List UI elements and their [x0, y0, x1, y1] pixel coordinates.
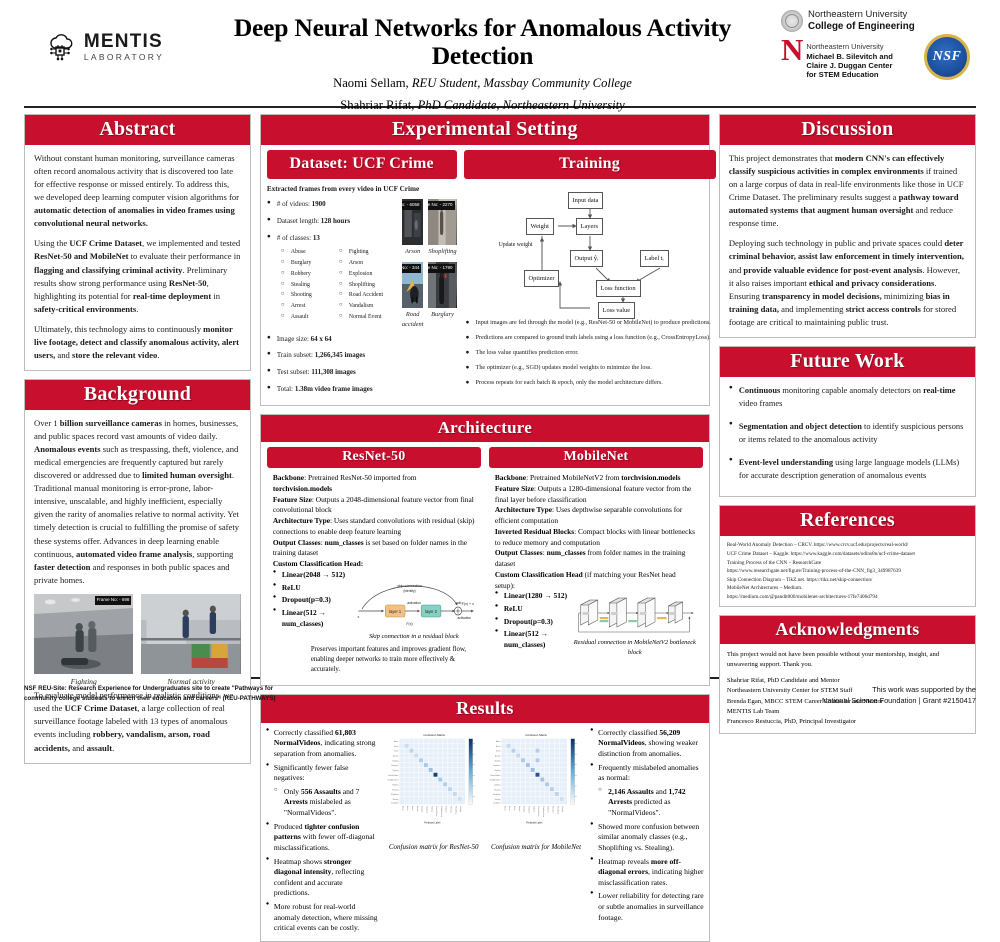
svg-text:RoadAccidents: RoadAccidents — [439, 806, 442, 817]
mentis-cloud-chip-icon — [44, 32, 78, 62]
resnet-head-title: Custom Classification Head: — [273, 559, 475, 570]
shoplifting-image: Frame No: - 2270 — [428, 199, 456, 245]
background-body: Over 1 billion surveillance cameras in h… — [25, 410, 250, 763]
resnet-arch-type-line: Architecture Type: Uses standard convolu… — [273, 516, 475, 537]
list-item: Arson — [339, 259, 395, 268]
architecture-heading: Architecture — [261, 415, 709, 442]
list-item: Abuse — [281, 248, 337, 257]
svg-text:NormalVideos: NormalVideos — [490, 774, 500, 776]
shoplifting-caption: Shoplifting — [428, 247, 456, 257]
thumbnail-burglary: Frame No: - 1790 — [428, 262, 456, 329]
stem-line-4: for STEM Education — [806, 70, 893, 79]
resnet-note: Preserves important features and improve… — [273, 645, 475, 675]
resnet-confusion-matrix-figure: Confusion Matrix — [386, 728, 482, 937]
abstract-paragraph-2: Using the UCF Crime Dataset, we implemen… — [34, 237, 241, 315]
mobilenet-arch-type-line: Architecture Type: Uses depthwise separa… — [495, 505, 697, 526]
svg-text:Assault: Assault — [518, 806, 521, 812]
acknowledgments-heading: Acknowledgments — [720, 616, 975, 644]
confusion-matrix-resnet: Confusion Matrix — [386, 728, 482, 840]
resnet-head-items: Linear(2048 → 512) ReLU Dropout(p=0.3) L… — [273, 570, 349, 641]
list-item: The loss value quantifies prediction err… — [466, 349, 716, 358]
resnet-skip-figure: layer 1 layer 2 skip connection (identit… — [353, 570, 475, 641]
background-figures: Frame No: - 698 — [34, 594, 241, 688]
training-flow-diagram: Input data Weight Layers Output ŷᵢ Label… — [464, 182, 716, 314]
dataset-subtitle: Extracted frames from every video in UCF… — [267, 185, 419, 193]
discussion-body: This project demonstrates that modern CN… — [720, 145, 975, 337]
author-1-name: Naomi Sellam, — [333, 76, 409, 90]
svg-text:Abuse: Abuse — [496, 740, 501, 743]
svg-text:x: x — [357, 615, 359, 619]
neu-college: College of Engineering — [808, 21, 915, 32]
abstract-panel: Abstract Without constant human monitori… — [24, 114, 251, 371]
svg-text:Shooting: Shooting — [551, 806, 554, 813]
list-item: Heatmap shows stronger diagonal intensit… — [266, 857, 380, 900]
list-item: Stealing — [281, 281, 337, 290]
discussion-heading: Discussion — [720, 115, 975, 145]
abstract-paragraph-3: Ultimately, this technology aims to cont… — [34, 323, 241, 362]
list-item: Only 556 Assaults and 7 Arrests mislabel… — [274, 787, 380, 819]
svg-text:Arrest: Arrest — [406, 806, 409, 811]
list-item: # of videos: 1900 — [267, 199, 395, 210]
future-work-list: Continuous monitoring capable anomaly de… — [729, 384, 966, 483]
svg-text:Arson: Arson — [496, 749, 500, 752]
list-item: Lower reliability for detecting rare or … — [590, 891, 704, 923]
resnet-backbone-line: Backbone: Pretrained ResNet-50 imported … — [273, 473, 475, 494]
results-heading: Results — [261, 695, 709, 723]
node-loss-function: Loss function — [596, 280, 641, 297]
mobilenet-figure-caption: Residual connection in MobileNetV2 bottl… — [573, 638, 697, 657]
list-item: Segmentation and object detection to ide… — [729, 420, 966, 447]
university-seal-icon — [781, 10, 803, 32]
author-1-affiliation: REU Student, Massbay Community College — [412, 76, 632, 90]
svg-text:NormalVideos: NormalVideos — [537, 806, 539, 816]
references-body: Real-World Anomaly Detection – CRCV. htt… — [720, 536, 975, 606]
list-item: Linear(512 → num_classes) — [495, 629, 569, 650]
mobilenet-results-bullets: Correctly classified 56,209 NormalVideos… — [590, 728, 704, 937]
class-column-1: Abuse Burglary Robbery Stealing Shooting… — [281, 248, 337, 324]
svg-text:Arson: Arson — [411, 806, 414, 810]
reference-item: Training Process of the CNN – ResearchGa… — [727, 559, 968, 567]
list-item: Linear(1280 → 512) — [495, 591, 569, 602]
list-item: Burglary — [281, 259, 337, 268]
svg-text:Confusion Matrix: Confusion Matrix — [525, 732, 547, 736]
svg-text:layer 1: layer 1 — [389, 609, 401, 614]
author-2-name: Shahriar Rifat, — [340, 98, 414, 112]
svg-text:Explosion: Explosion — [527, 806, 529, 813]
stem-neu-name: Northeastern University — [806, 43, 893, 52]
svg-text:RoadAccidents: RoadAccidents — [489, 778, 500, 781]
northeastern-n-icon: N — [781, 37, 803, 63]
training-subpanel: Training — [464, 150, 716, 400]
list-item: Correctly classified 56,209 NormalVideos… — [590, 728, 704, 760]
discussion-paragraph-2: Deploying such technology in public and … — [729, 237, 966, 328]
resnet-results-bullets: Correctly classified 61,803 NormalVideos… — [266, 728, 380, 937]
list-item: Fighting — [339, 248, 395, 257]
stem-line-3: Claire J. Duggan Center — [806, 61, 893, 70]
mentis-logo-container: MENTIS LABORATORY — [24, 6, 184, 62]
svg-text:skip connection: skip connection — [397, 584, 422, 588]
list-item: Produced tighter confusion patterns with… — [266, 822, 380, 854]
resnet-feature-size-line: Feature Size: Outputs a 2048-dimensional… — [273, 495, 475, 516]
svg-text:Arrest: Arrest — [394, 745, 399, 748]
svg-text:Explosion: Explosion — [425, 806, 427, 813]
footer-left-line-1: NSF REU-Site: Research Experience for Un… — [24, 684, 275, 694]
footer-right: This work was supported by the National … — [822, 684, 976, 707]
list-item: Correctly classified 61,803 NormalVideos… — [266, 728, 380, 760]
svg-text:Burglary: Burglary — [392, 760, 398, 762]
future-work-body: Continuous monitoring capable anomaly de… — [720, 377, 975, 497]
architecture-panel: Architecture ResNet-50 Backbone: Pretrai… — [260, 414, 710, 685]
mobilenet-confusion-matrix-figure: Confusion Matrix — [488, 728, 584, 937]
nsf-logo-icon: NSF — [924, 34, 970, 80]
class-list-grid: Abuse Burglary Robbery Stealing Shooting… — [277, 245, 395, 324]
page-title: Deep Neural Networks for Anomalous Activ… — [184, 14, 781, 70]
poster-root: MENTIS LABORATORY Deep Neural Networks f… — [0, 0, 1000, 707]
mobilenet-figure: Residual connection in MobileNetV2 bottl… — [573, 591, 697, 657]
mobilenet-body: Backbone: Pretrained MobileNetV2 from to… — [489, 468, 703, 662]
svg-text:activation: activation — [457, 616, 471, 620]
thumbnail-road-accident: Frame No: - 344 — [402, 262, 424, 329]
confusion-matrix-mobilenet: Confusion Matrix — [488, 728, 584, 840]
list-item: Significantly fewer false negatives: Onl… — [266, 763, 380, 819]
future-work-heading: Future Work — [720, 347, 975, 377]
left-column: Abstract Without constant human monitori… — [24, 114, 251, 674]
node-layers: Layers — [576, 218, 603, 235]
experimental-setting-panel: Experimental Setting Dataset: UCF Crime … — [260, 114, 710, 406]
list-item: # of classes: 13 Abuse Burglary Robbery — [267, 233, 395, 324]
svg-text:NormalVideos: NormalVideos — [388, 774, 398, 776]
right-column: Discussion This project demonstrates tha… — [719, 114, 976, 674]
node-loss-value: Loss value — [598, 302, 636, 319]
reference-item: UCF Crime Dataset – Kaggle. https://www.… — [727, 550, 968, 558]
mobilenet-backbone-line: Backbone: Pretrained MobileNetV2 from to… — [495, 473, 697, 484]
ack-name: Francesco Restuccia, PhD, Principal Inve… — [727, 717, 968, 727]
reference-item: Real-World Anomaly Detection – CRCV. htt… — [727, 541, 968, 549]
mobilenet-inverted-blocks-line: Inverted Residual Blocks: Compact blocks… — [495, 527, 697, 548]
dataset-heading: Dataset: UCF Crime — [267, 150, 457, 179]
node-label: Label tᵢ — [640, 250, 669, 267]
svg-text:F(x) + x: F(x) + x — [462, 602, 474, 606]
neu-name: Northeastern University — [808, 10, 915, 21]
svg-text:Fighting: Fighting — [430, 806, 433, 812]
list-item: Test subset: 111,308 images — [267, 367, 457, 378]
thumbnail-shoplifting: Frame No: - 2270 — [428, 199, 456, 257]
svg-text:Shooting: Shooting — [449, 806, 452, 813]
mentis-logo: MENTIS LABORATORY — [44, 32, 164, 62]
acknowledgments-panel: Acknowledgments This project would not h… — [719, 615, 976, 734]
stem-line-2: Michael B. Silevitch and — [806, 52, 893, 61]
svg-text:Predicted Label: Predicted Label — [424, 821, 440, 824]
skip-connection-diagram: layer 1 layer 2 skip connection (identit… — [353, 573, 475, 631]
dataset-thumbnails: Frame No: - 6058 — [402, 199, 457, 329]
resnet-subpanel: ResNet-50 Backbone: Pretrained ResNet-50… — [267, 447, 481, 679]
svg-text:NormalVideos: NormalVideos — [435, 806, 437, 816]
mentis-name: MENTIS — [84, 32, 164, 51]
mobilenet-head-title: Custom Classification Head (if matching … — [495, 570, 697, 591]
svg-text:layer 2: layer 2 — [425, 609, 437, 614]
mentis-sublabel: LABORATORY — [84, 53, 164, 62]
svg-text:Shoplifting: Shoplifting — [556, 806, 559, 814]
ack-name: MENTIS Lab Team — [727, 707, 968, 717]
fighting-figure: Frame No: - 698 — [34, 594, 133, 688]
reference-item: https://www.researchgate.net/figure/Trai… — [727, 567, 968, 575]
list-item: Road Accident — [339, 291, 395, 300]
results-panel: Results Correctly classified 61,803 Norm… — [260, 694, 710, 942]
mobilenet-feature-size-line: Feature Size: Outputs a 1280-dimensional… — [495, 484, 697, 505]
list-item: Linear(2048 → 512) — [273, 570, 349, 581]
svg-text:Fighting: Fighting — [532, 806, 535, 812]
svg-text:Abuse: Abuse — [393, 740, 398, 743]
svg-text:Burglary: Burglary — [494, 760, 500, 762]
list-item: 2,146 Assaults and 1,742 Arrests predict… — [598, 787, 704, 819]
svg-text:add: add — [456, 601, 461, 605]
list-item: More robust for real-world anomaly detec… — [266, 902, 380, 934]
mobilenet-output-classes-line: Output Classes: num_classes from folder … — [495, 548, 697, 569]
svg-text:Shooting: Shooting — [392, 788, 399, 791]
node-optimizer: Optimizer — [524, 270, 560, 287]
list-item: Event-level understanding using large la… — [729, 456, 966, 483]
discussion-panel: Discussion This project demonstrates tha… — [719, 114, 976, 338]
list-item: Vandalism — [339, 302, 395, 311]
abstract-p1-text: Without constant human monitoring, surve… — [34, 153, 239, 202]
node-input-data: Input data — [568, 192, 604, 209]
list-item: Arrest — [281, 302, 337, 311]
svg-text:Robbery: Robbery — [392, 784, 398, 786]
list-item: Predictions are compared to ground truth… — [466, 334, 716, 343]
svg-text:Assault: Assault — [495, 754, 501, 757]
list-item: Dataset length: 128 hours — [267, 216, 395, 227]
list-item: Image size: 64 x 64 — [267, 334, 457, 345]
svg-text:Stealing: Stealing — [561, 806, 564, 812]
svg-text:Shoplifting: Shoplifting — [454, 806, 457, 814]
svg-text:Robbery: Robbery — [547, 806, 549, 812]
list-item: Robbery — [281, 270, 337, 279]
dataset-stats-list-2: Image size: 64 x 64 Train subset: 1,266,… — [267, 334, 457, 395]
svg-text:RoadAccidents: RoadAccidents — [387, 778, 398, 781]
normal-activity-image — [141, 594, 240, 674]
arson-caption: Arson — [402, 247, 424, 257]
poster-columns: Abstract Without constant human monitori… — [24, 114, 976, 674]
svg-text:Fighting: Fighting — [495, 769, 501, 772]
list-item: Explosion — [339, 270, 395, 279]
frame-number-label: Frame No: - 698 — [95, 596, 132, 605]
list-item: Continuous monitoring capable anomaly de… — [729, 384, 966, 411]
list-item: Dropout(p=0.3) — [495, 617, 569, 628]
background-heading: Background — [25, 380, 250, 410]
svg-text:Assault: Assault — [415, 806, 418, 812]
svg-text:Burglary: Burglary — [522, 806, 524, 812]
mobilenet-subpanel: MobileNet Backbone: Pretrained MobileNet… — [489, 447, 703, 679]
author-2: Shahriar Rifat, PhD Candidate, Northeast… — [184, 97, 781, 114]
list-item: Assault — [281, 313, 337, 322]
burglary-image: Frame No: - 1790 — [428, 262, 456, 308]
list-item: Input images are fed through the model (… — [466, 319, 716, 328]
northeastern-coe-logo: Northeastern University College of Engin… — [781, 10, 976, 32]
list-item: The optimizer (e.g., SGD) updates model … — [466, 364, 716, 373]
normal-activity-figure: Normal activity — [141, 594, 240, 688]
svg-text:Abuse: Abuse — [401, 806, 404, 811]
future-work-panel: Future Work Continuous monitoring capabl… — [719, 346, 976, 498]
middle-column: Experimental Setting Dataset: UCF Crime … — [260, 114, 710, 674]
list-item: ReLU — [495, 604, 569, 615]
experimental-setting-heading: Experimental Setting — [261, 115, 709, 145]
frame-number-label: Frame No: - 6058 — [402, 201, 422, 210]
reference-item: MobileNet Architectures – Medium. — [727, 584, 968, 592]
list-item: Showed more confusion between similar an… — [590, 822, 704, 854]
author-1: Naomi Sellam, REU Student, Massbay Commu… — [184, 75, 781, 92]
svg-text:Shooting: Shooting — [494, 788, 501, 791]
footer-left-line-2: community college students to enrich the… — [24, 694, 275, 704]
svg-text:Burglary: Burglary — [420, 806, 422, 812]
reference-item: Skip Connection Diagram – TikZ.net. http… — [727, 576, 968, 584]
list-item: ReLU — [273, 583, 349, 594]
road-accident-caption: Road accident — [402, 310, 424, 329]
training-heading: Training — [464, 150, 716, 179]
references-panel: References Real-World Anomaly Detection … — [719, 505, 976, 607]
mobilenet-bottleneck-diagram — [573, 593, 697, 637]
list-item: Frequently mislabeled anomalies as norma… — [590, 763, 704, 819]
resnet-body: Backbone: Pretrained ResNet-50 imported … — [267, 468, 481, 679]
skip-connection-caption: Skip connection in a residual block — [353, 632, 475, 641]
discussion-paragraph-1: This project demonstrates that modern CN… — [729, 152, 966, 230]
svg-text:Stealing: Stealing — [494, 798, 500, 801]
thumbnail-arson: Frame No: - 6058 — [402, 199, 424, 257]
svg-text:Explosion: Explosion — [493, 765, 500, 767]
svg-text:Shoplifting: Shoplifting — [390, 793, 398, 796]
svg-text:RoadAccidents: RoadAccidents — [542, 806, 545, 817]
list-item: Dropout(p=0.3) — [273, 595, 349, 606]
list-item: Total: 1.38m video frame images — [267, 384, 457, 395]
svg-text:Stealing: Stealing — [459, 806, 462, 812]
svg-text:Shoplifting: Shoplifting — [493, 793, 501, 796]
svg-text:Fighting: Fighting — [392, 769, 398, 772]
frame-number-label: Frame No: - 1790 — [428, 264, 454, 273]
author-2-affiliation: PhD Candidate, Northeastern University — [418, 98, 625, 112]
nsf-label: NSF — [933, 49, 962, 65]
resnet-output-classes-line: Output Classes: num_classes is set based… — [273, 538, 475, 559]
frame-number-label: Frame No: - 2270 — [428, 201, 454, 210]
dataset-stats-list: # of videos: 1900 Dataset length: 128 ho… — [267, 199, 395, 323]
mobilenet-cm-caption: Confusion matrix for MobileNet — [488, 843, 584, 853]
burglary-caption: Burglary — [428, 310, 456, 320]
footer-left: NSF REU-Site: Research Experience for Un… — [24, 684, 275, 707]
resnet-heading: ResNet-50 — [267, 447, 481, 468]
list-item: Train subset: 1,266,345 images — [267, 350, 457, 361]
references-heading: References — [720, 506, 975, 536]
svg-text:Vandalism: Vandalism — [391, 802, 399, 804]
svg-text:Robbery: Robbery — [494, 784, 500, 786]
mentis-wordmark: MENTIS LABORATORY — [84, 32, 164, 62]
list-item: Heatmap reveals more off-diagonal errors… — [590, 857, 704, 889]
resnet-cm-caption: Confusion matrix for ResNet-50 — [386, 843, 482, 853]
svg-text:Confusion Matrix: Confusion Matrix — [423, 732, 445, 736]
training-bullets: Input images are fed through the model (… — [464, 319, 716, 387]
abstract-body: Without constant human monitoring, surve… — [25, 145, 250, 370]
svg-text:Stealing: Stealing — [392, 798, 398, 801]
svg-text:activation: activation — [407, 601, 421, 605]
svg-text:Robbery: Robbery — [444, 806, 446, 812]
list-item: Linear(512 → num_classes) — [273, 608, 349, 629]
reference-item: https://medium.com/@pandit000/mobilenet-… — [727, 593, 968, 601]
footer-right-line-1: This work was supported by the — [822, 684, 976, 695]
svg-text:Abuse: Abuse — [503, 806, 506, 811]
mobilenet-head-items: Linear(1280 → 512) ReLU Dropout(p=0.3) L… — [495, 591, 569, 657]
node-weight: Weight — [526, 218, 554, 235]
svg-text:Assault: Assault — [393, 754, 399, 757]
svg-text:Arrest: Arrest — [508, 806, 511, 811]
svg-text:Arson: Arson — [394, 749, 398, 752]
fighting-image: Frame No: - 698 — [34, 594, 133, 674]
node-output: Output ŷᵢ — [570, 250, 604, 267]
poster-header: MENTIS LABORATORY Deep Neural Networks f… — [24, 0, 976, 104]
list-item: Normal Event — [339, 313, 395, 322]
svg-text:Vandalism: Vandalism — [493, 802, 501, 804]
svg-text:Arson: Arson — [513, 806, 516, 810]
svg-text:Explosion: Explosion — [391, 765, 398, 767]
acknowledgments-intro: This project would not have been possibl… — [727, 650, 968, 670]
list-item: Process repeats for each batch & epoch, … — [466, 379, 716, 388]
mobilenet-heading: MobileNet — [489, 447, 703, 468]
svg-text:F(x): F(x) — [406, 622, 413, 626]
list-item: Shoplifting — [339, 281, 395, 290]
background-paragraph-1: Over 1 billion surveillance cameras in h… — [34, 417, 241, 587]
road-accident-image: Frame No: - 344 — [402, 262, 424, 308]
class-column-2: Fighting Arson Explosion Shoplifting Roa… — [339, 248, 395, 324]
abstract-p1-bold: automatic detection of anomalies in vide… — [34, 205, 235, 228]
svg-text:Predicted Label: Predicted Label — [526, 821, 542, 824]
abstract-heading: Abstract — [25, 115, 250, 145]
abstract-paragraph-1: Without constant human monitoring, surve… — [34, 152, 241, 230]
svg-text:Arrest: Arrest — [496, 745, 501, 748]
institution-logos: Northeastern University College of Engin… — [781, 6, 976, 79]
arson-image: Frame No: - 6058 — [402, 199, 424, 245]
dataset-subpanel: Dataset: UCF Crime Extracted frames from… — [267, 150, 457, 400]
list-item: Shooting — [281, 291, 337, 300]
svg-text:(identity): (identity) — [403, 589, 415, 593]
label-update-weight: Update weight — [498, 242, 534, 249]
footer-right-line-2: National Science Foundation | Grant #215… — [822, 695, 976, 706]
frame-number-label: Frame No: - 344 — [402, 264, 422, 273]
